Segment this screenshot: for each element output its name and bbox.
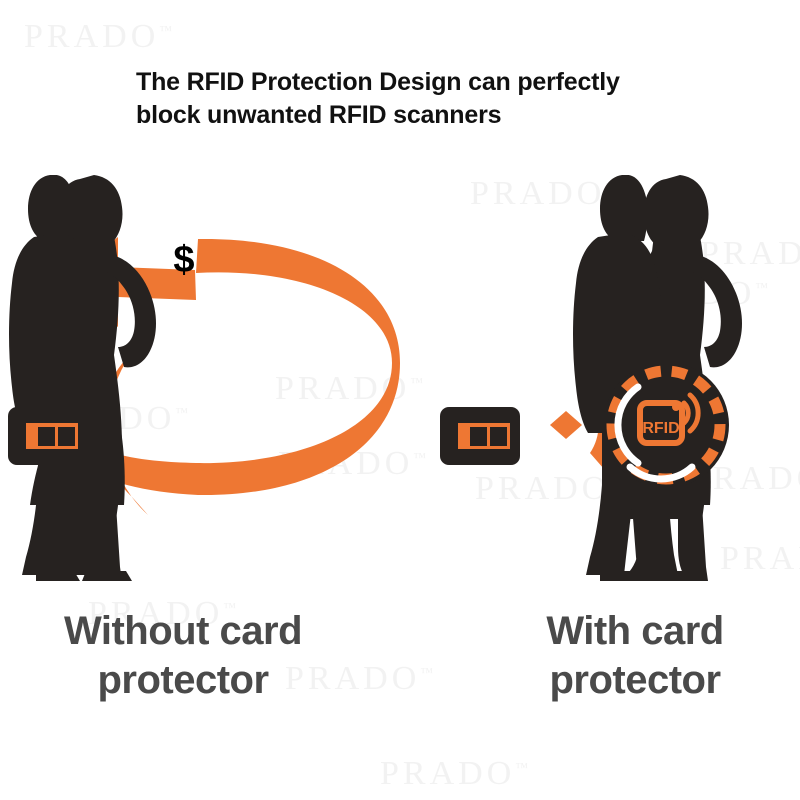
heading-line-2: block unwanted RFID scanners	[136, 101, 501, 129]
caption-left-line-2: protector	[18, 656, 348, 705]
page-title: The RFID Protection Design can perfectly…	[136, 66, 696, 132]
heading-line-1: The RFID Protection Design can perfectly	[136, 68, 620, 96]
infographic-canvas: PRADO™PRADO™PRADO™PRADO™PRADO™PRADO™PRAD…	[0, 0, 800, 800]
caption-without-protector: Without card protector	[18, 607, 348, 705]
wallet-right	[440, 407, 520, 465]
caption-left-line-1: Without card	[18, 607, 348, 656]
wallet-overlay: $	[0, 175, 800, 585]
dollar-sign: $	[173, 239, 194, 281]
caption-right-line-1: With card	[470, 607, 800, 656]
caption-with-protector: With card protector	[470, 607, 800, 705]
wallet-left	[8, 407, 88, 465]
watermark: PRADO™	[24, 18, 172, 56]
watermark: PRADO™	[380, 755, 528, 793]
caption-right-line-2: protector	[470, 656, 800, 705]
